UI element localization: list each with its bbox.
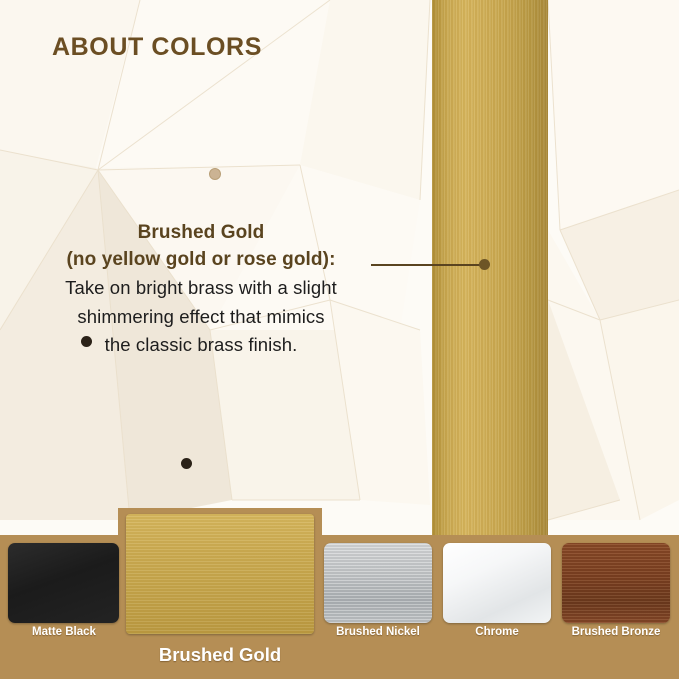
callout-body-line-3: the classic brass finish. xyxy=(36,332,366,358)
swatch-chip-matte-black[interactable] xyxy=(8,543,119,623)
swatch-label-brushed-nickel: Brushed Nickel xyxy=(312,626,444,638)
swatch-label-brushed-bronze: Brushed Bronze xyxy=(550,626,679,638)
swatch-chip-brushed-nickel[interactable] xyxy=(324,543,432,623)
swatch-chip-brushed-bronze[interactable] xyxy=(562,543,670,623)
swatch-chip-chrome[interactable] xyxy=(443,543,551,623)
callout-heading-line-1: Brushed Gold xyxy=(36,219,366,246)
callout-text-block: Brushed Gold (no yellow gold or rose gol… xyxy=(36,219,366,359)
page-title: ABOUT COLORS xyxy=(52,33,262,62)
brushed-gold-sample-bar xyxy=(432,0,548,536)
callout-body-line-2: shimmering effect that mimics xyxy=(36,304,366,330)
callout-heading-line-2: (no yellow gold or rose gold): xyxy=(36,246,366,273)
swatch-label-brushed-gold: Brushed Gold xyxy=(118,644,322,666)
callout-leader-dot xyxy=(479,259,490,270)
decor-dot-tan xyxy=(209,168,221,180)
callout-body-line-1: Take on bright brass with a slight xyxy=(36,275,366,301)
callout-leader-line xyxy=(371,264,488,266)
swatch-label-matte-black: Matte Black xyxy=(0,626,128,638)
swatch-label-chrome: Chrome xyxy=(431,626,563,638)
about-colors-infographic: ABOUT COLORS Brushed Gold (no yellow gol… xyxy=(0,0,679,679)
swatch-chip-brushed-gold[interactable] xyxy=(126,514,314,634)
decor-dot-dark-lower xyxy=(181,458,192,469)
